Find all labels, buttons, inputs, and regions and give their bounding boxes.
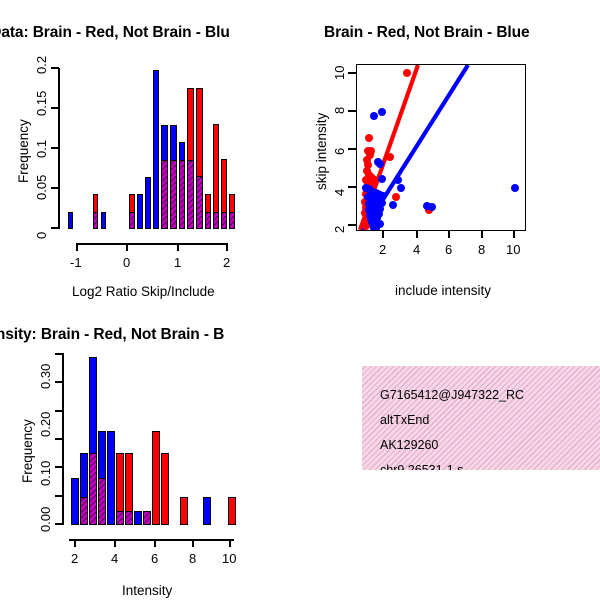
bar-blue [153, 70, 159, 229]
intensity-x-tick-mark-1 [114, 539, 116, 547]
intensity-x-tick-mark-3 [192, 539, 194, 547]
scatter-y-tick-2: 6 [332, 148, 347, 155]
scatter-y-tick-mark-3 [348, 110, 356, 112]
data-point-red [386, 153, 394, 161]
ratio-x-axis-line [76, 243, 228, 245]
ratio-histogram-xlabel: Log2 Ratio Skip/Include [72, 284, 215, 299]
annotation-event-type: altTxEnd [380, 413, 429, 427]
bar-overlap [125, 511, 133, 525]
ratio-x-tick-3: 2 [223, 255, 230, 270]
data-point-red [392, 193, 400, 201]
ratio-x-tick-2: 1 [174, 255, 181, 270]
bar-overlap [187, 160, 194, 229]
bar-overlap [161, 160, 168, 229]
bar-overlap [205, 212, 211, 229]
panel-ratio-histogram: RatioData: Brain - Red, Not Brain - Blu … [0, 0, 300, 300]
data-point-blue [370, 112, 378, 120]
ratio-histogram-plot-area [0, 0, 300, 300]
data-point-blue [376, 160, 384, 168]
bar-red [180, 497, 188, 525]
bar-blue [203, 497, 211, 525]
data-point-red [403, 69, 411, 77]
bar-overlap [213, 212, 219, 229]
scatter-x-tick-2: 6 [445, 242, 452, 257]
bar-overlap [80, 497, 88, 525]
scatter-y-tick-1: 4 [332, 189, 347, 196]
scatter-y-tick-0: 2 [332, 226, 347, 233]
scatter-x-tick-1: 4 [413, 242, 420, 257]
data-point-blue [397, 184, 405, 192]
scatter-title: Brain - Red, Not Brain - Blue [324, 24, 530, 42]
bar-red [228, 497, 236, 525]
bar-red [152, 431, 160, 525]
bar-blue [101, 212, 106, 229]
annotation-probe-id: G7165412@J947322_RC [380, 388, 524, 402]
bar-red [161, 453, 169, 525]
scatter-x-tick-0: 2 [379, 242, 386, 257]
scatter-ylabel: skip intensity [314, 113, 329, 190]
bar-overlap [116, 511, 124, 525]
data-point-blue [378, 175, 386, 183]
scatter-x-tick-mark-0 [382, 230, 384, 238]
intensity-x-axis-line [69, 539, 234, 541]
ratio-x-tick-mark-0 [76, 243, 78, 251]
scatter-y-tick-mark-0 [348, 224, 356, 226]
intensity-x-tick-2: 6 [151, 551, 158, 566]
scatter-y-tick-mark-2 [348, 148, 356, 150]
bar-blue [137, 194, 143, 229]
data-point-red [365, 134, 373, 142]
ratio-x-tick-mark-2 [177, 243, 179, 251]
panel-annotation: G7165412@J947322_RC altTxEnd AK129260 ch… [300, 300, 600, 600]
intensity-x-tick-mark-4 [229, 539, 231, 547]
intensity-x-tick-1: 4 [111, 551, 118, 566]
data-point-blue [394, 176, 402, 184]
annotation-locus: chr9.26531-1.s [380, 463, 463, 470]
scatter-xlabel: include intensity [395, 283, 491, 298]
intensity-x-tick-4: 10 [222, 551, 236, 566]
bar-overlap [98, 478, 106, 525]
data-point-blue [428, 203, 436, 211]
annotation-accession: AK129260 [380, 438, 438, 452]
scatter-y-tick-mark-4 [348, 72, 356, 74]
scatter-y-tick-3: 8 [332, 107, 347, 114]
intensity-histogram-plot-area [0, 300, 300, 600]
bar-overlap [93, 212, 98, 229]
intensity-x-tick-0: 2 [71, 551, 78, 566]
ratio-x-tick-mark-3 [226, 243, 228, 251]
scatter-plot-area [356, 64, 526, 231]
intensity-x-tick-mark-2 [154, 539, 156, 547]
bar-blue [134, 511, 142, 525]
data-point-blue [378, 108, 386, 116]
bar-overlap [129, 212, 135, 229]
bar-overlap [196, 176, 203, 229]
ratio-x-tick-0: -1 [70, 255, 82, 270]
data-point-blue [372, 225, 380, 231]
annotation-box: G7165412@J947322_RC altTxEnd AK129260 ch… [362, 366, 600, 470]
scatter-y-tick-mark-1 [348, 186, 356, 188]
panel-intensity-histogram: ne Itensity: Brain - Red, Not Brain - B … [0, 300, 300, 600]
scatter-x-tick-4: 10 [506, 242, 520, 257]
data-point-blue [511, 184, 519, 192]
scatter-x-tick-mark-4 [513, 230, 515, 238]
bar-blue [145, 177, 151, 229]
bar-overlap [221, 212, 227, 229]
data-point-blue [389, 201, 397, 209]
bar-overlap [143, 511, 151, 525]
bar-overlap [179, 160, 185, 229]
bar-overlap [89, 453, 97, 525]
intensity-x-tick-mark-0 [74, 539, 76, 547]
bar-blue [107, 431, 115, 525]
scatter-x-tick-3: 8 [478, 242, 485, 257]
bar-overlap [229, 212, 235, 229]
scatter-x-tick-mark-2 [448, 230, 450, 238]
bar-overlap [170, 160, 177, 229]
scatter-x-tick-mark-3 [481, 230, 483, 238]
scatter-x-tick-mark-1 [416, 230, 418, 238]
ratio-x-tick-1: 0 [123, 255, 130, 270]
bar-blue [68, 212, 73, 229]
panel-scatter: Brain - Red, Not Brain - Blue skip inten… [300, 0, 600, 300]
ratio-x-tick-mark-1 [126, 243, 128, 251]
intensity-x-tick-3: 8 [189, 551, 196, 566]
intensity-histogram-xlabel: Intensity [122, 583, 172, 598]
scatter-y-tick-4: 10 [332, 66, 347, 80]
bar-blue [71, 478, 79, 525]
